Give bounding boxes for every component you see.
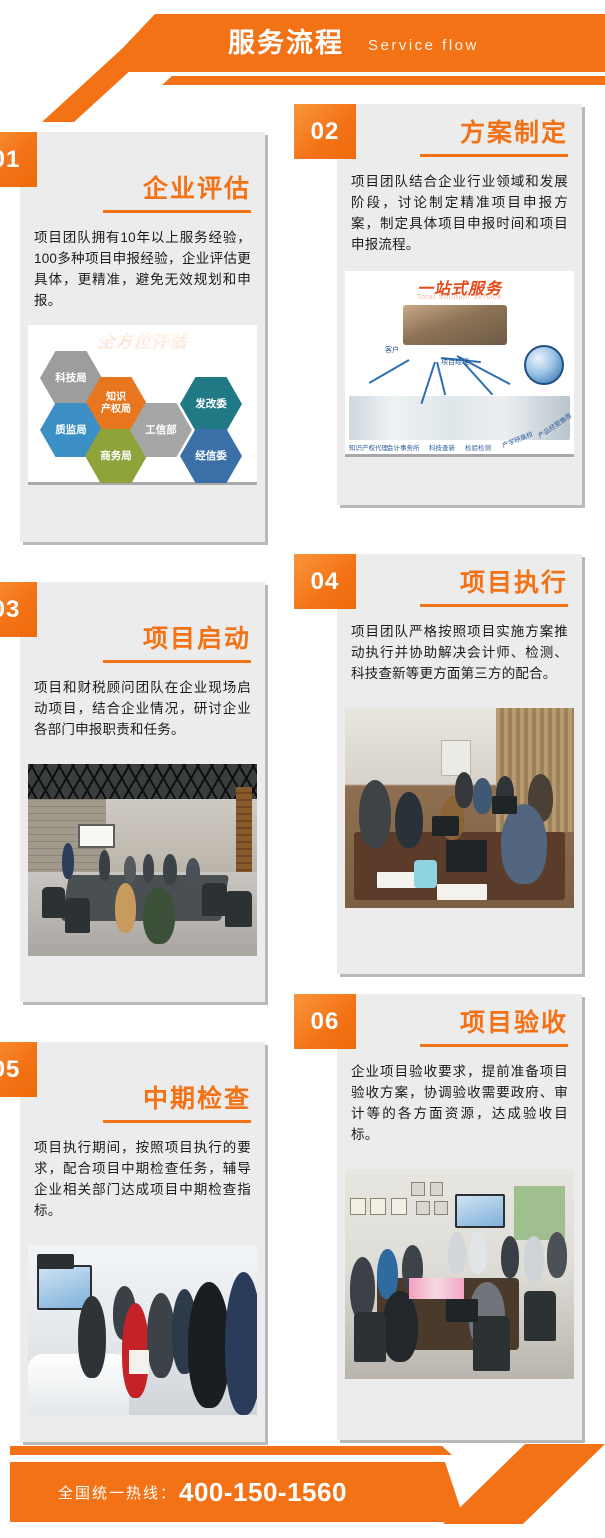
photo-person [524, 1236, 545, 1282]
photo-person [455, 772, 473, 808]
all-round-evaluation-diagram: 全方位评估 科技局 知识 产权局 质监局 商务局 工信部 发改委 经信委 [28, 325, 257, 485]
os-node-ip-agency: 知识产权代理 [349, 442, 388, 452]
onsite-inspection-photo [28, 1245, 257, 1415]
acceptance-meeting-photo [345, 1169, 574, 1379]
step-body-01: 项目团队拥有10年以上服务经验，100多种项目申报经验，企业评估更具体，更精准，… [20, 213, 265, 321]
hex-label-3: 商务局 [100, 450, 132, 462]
evaluation-diagram-title: 全方位评估 [98, 327, 188, 352]
step-body-03: 项目和财税顾问团队在企业现场启动项目，结合企业情况，研讨企业各部门申报职责和任务… [20, 663, 265, 750]
photo-person [62, 843, 73, 879]
photo-chair [473, 1316, 510, 1371]
photo-person [547, 1232, 568, 1278]
photo-person [473, 778, 491, 814]
photo-certificate-frame [434, 1201, 448, 1216]
photo-chair [354, 1312, 386, 1362]
photo-person [448, 1232, 466, 1274]
photo-projector-screen [455, 1194, 505, 1228]
photo-wall-monitor [37, 1254, 74, 1269]
photo-bag [414, 860, 437, 888]
service-step-card-01[interactable]: 01 企业评估 项目团队拥有10年以上服务经验，100多种项目申报经验，企业评估… [20, 132, 265, 542]
team-working-session-photo [345, 708, 574, 908]
photo-certificate-frame [430, 1182, 444, 1197]
step-body-04: 项目团队严格按照项目实施方案推动执行并协助解决会计师、检测、科技查新等更方面第三… [337, 607, 582, 694]
photo-whiteboard [78, 824, 115, 849]
step-number-badge-04: 04 [294, 554, 356, 609]
photo-chair [42, 887, 65, 918]
hotline-label: 全国统一热线： [58, 1482, 177, 1503]
photo-laptop [446, 840, 487, 872]
photo-laptop [446, 1299, 478, 1322]
photo-chair [202, 883, 227, 916]
hex-label-1: 知识 产权局 [101, 392, 131, 416]
photo-person [78, 1296, 105, 1378]
hex-node-jingxin: 经信委 [180, 429, 242, 483]
service-flow-poster: 服务流程 Service flow 01 企业评估 项目团队拥有10年以上服务经… [0, 0, 605, 1538]
service-step-card-04[interactable]: 04 项目执行 项目团队严格按照项目实施方案推动执行并协助解决会计师、检测、科技… [337, 554, 582, 974]
step-body-02: 项目团队结合企业行业领域和发展阶段，讨论制定精准项目申报方案，制定具体项目申报时… [337, 157, 582, 265]
photo-display-counter [28, 1354, 129, 1415]
hex-label-0: 科技局 [55, 372, 87, 384]
os-node-novelty: 科技查新 [429, 442, 455, 452]
one-stop-service-diagram: 一站式服务 Total Solution Service 客户 项目经理 知识产… [345, 271, 574, 457]
photo-person [186, 858, 200, 887]
photo-chair [65, 898, 90, 933]
photo-person [469, 1232, 487, 1274]
photo-laptop [492, 796, 517, 814]
page-title: 服务流程 [228, 26, 344, 60]
photo-person [359, 780, 391, 848]
os-arrow-2 [369, 359, 410, 384]
step-title-02: 方案制定 [337, 104, 582, 148]
one-stop-center-photo [403, 305, 507, 345]
os-node-inspection: 检验检测 [465, 442, 491, 452]
hex-label-5: 发改委 [195, 398, 227, 410]
photo-certificate-frame [416, 1201, 430, 1216]
service-step-card-02[interactable]: 02 方案制定 项目团队结合企业行业领域和发展阶段，讨论制定精准项目申报方案，制… [337, 104, 582, 505]
hex-label-2: 质监局 [55, 424, 87, 436]
page-header: 服务流程 Service flow [0, 0, 605, 100]
service-step-card-03[interactable]: 03 项目启动 项目和财税顾问团队在企业现场启动项目，结合企业情况，研讨企业各部… [20, 582, 265, 1002]
step-number-badge-02: 02 [294, 104, 356, 159]
os-node-project-manager: 项目经理 [441, 357, 469, 367]
photo-person [501, 1236, 519, 1278]
step-title-05: 中期检查 [20, 1042, 265, 1114]
photo-certificate-frame [411, 1182, 425, 1197]
page-footer: 全国统一热线： 400-150-1560 [0, 1408, 605, 1538]
hex-label-4: 工信部 [145, 424, 177, 436]
hotline-block: 全国统一热线： 400-150-1560 [58, 1474, 347, 1510]
photo-laptop [432, 816, 459, 836]
step-body-06: 企业项目验收要求，提前准备项目验收方案，协调验收需要政府、审计等的各方面资源，达… [337, 1047, 582, 1155]
photo-person [124, 856, 135, 883]
photo-person [395, 792, 422, 848]
service-step-card-06[interactable]: 06 项目验收 企业项目验收要求，提前准备项目验收方案，协调验收需要政府、审计等… [337, 994, 582, 1440]
photo-person-green-coat [143, 887, 175, 945]
step-number-badge-05: 05 [0, 1042, 37, 1097]
step-number-badge-06: 06 [294, 994, 356, 1049]
photo-person [163, 854, 177, 885]
photo-flower-row [409, 1278, 464, 1299]
hex-label-6: 经信委 [195, 450, 227, 462]
hotline-number[interactable]: 400-150-1560 [179, 1477, 347, 1508]
photo-chair [225, 891, 252, 927]
one-stop-subtitle: Total Solution Service [417, 292, 502, 301]
photo-person [350, 1257, 375, 1320]
os-node-customer: 客户 [385, 345, 399, 355]
photo-certificate-frame [350, 1198, 366, 1215]
service-step-card-05[interactable]: 05 中期检查 项目执行期间，按照项目执行的要求，配合项目中期检查任务，辅导企业… [20, 1042, 265, 1442]
photo-person [147, 1293, 174, 1378]
photo-scene-06 [345, 1169, 574, 1379]
photo-person-foreground [382, 1291, 419, 1362]
photo-papers [129, 1350, 150, 1374]
step-title-01: 企业评估 [20, 132, 265, 204]
photo-person-foreground [188, 1282, 229, 1408]
photo-person [99, 850, 110, 881]
photo-person [143, 854, 154, 883]
conference-room-kickoff-photo [28, 764, 257, 956]
os-certification-seal [524, 345, 564, 385]
photo-papers [437, 884, 487, 900]
step-title-03: 项目启动 [20, 582, 265, 654]
photo-person-foreground [501, 804, 547, 884]
photo-scene-03 [28, 764, 257, 956]
os-node-accounting: 会计事务所 [387, 442, 420, 452]
step-body-05: 项目执行期间，按照项目执行的要求，配合项目中期检查任务，辅导企业相关部门达成项目… [20, 1123, 265, 1231]
photo-scene-05 [28, 1245, 257, 1415]
step-title-06: 项目验收 [337, 994, 582, 1038]
photo-ac-unit [441, 740, 471, 776]
hex-node-fagai: 发改委 [180, 377, 242, 431]
step-title-04: 项目执行 [337, 554, 582, 598]
photo-certificate-frame [391, 1198, 407, 1215]
photo-person-foreground [225, 1272, 257, 1415]
photo-scene-04 [345, 708, 574, 908]
photo-person [115, 883, 136, 933]
step-number-badge-03: 03 [0, 582, 37, 637]
photo-papers [377, 872, 418, 888]
step-number-badge-01: 01 [0, 132, 37, 187]
photo-certificate-frame [370, 1198, 386, 1215]
photo-wood-column [236, 787, 252, 883]
photo-chair [524, 1291, 556, 1341]
page-subtitle: Service flow [368, 34, 479, 58]
